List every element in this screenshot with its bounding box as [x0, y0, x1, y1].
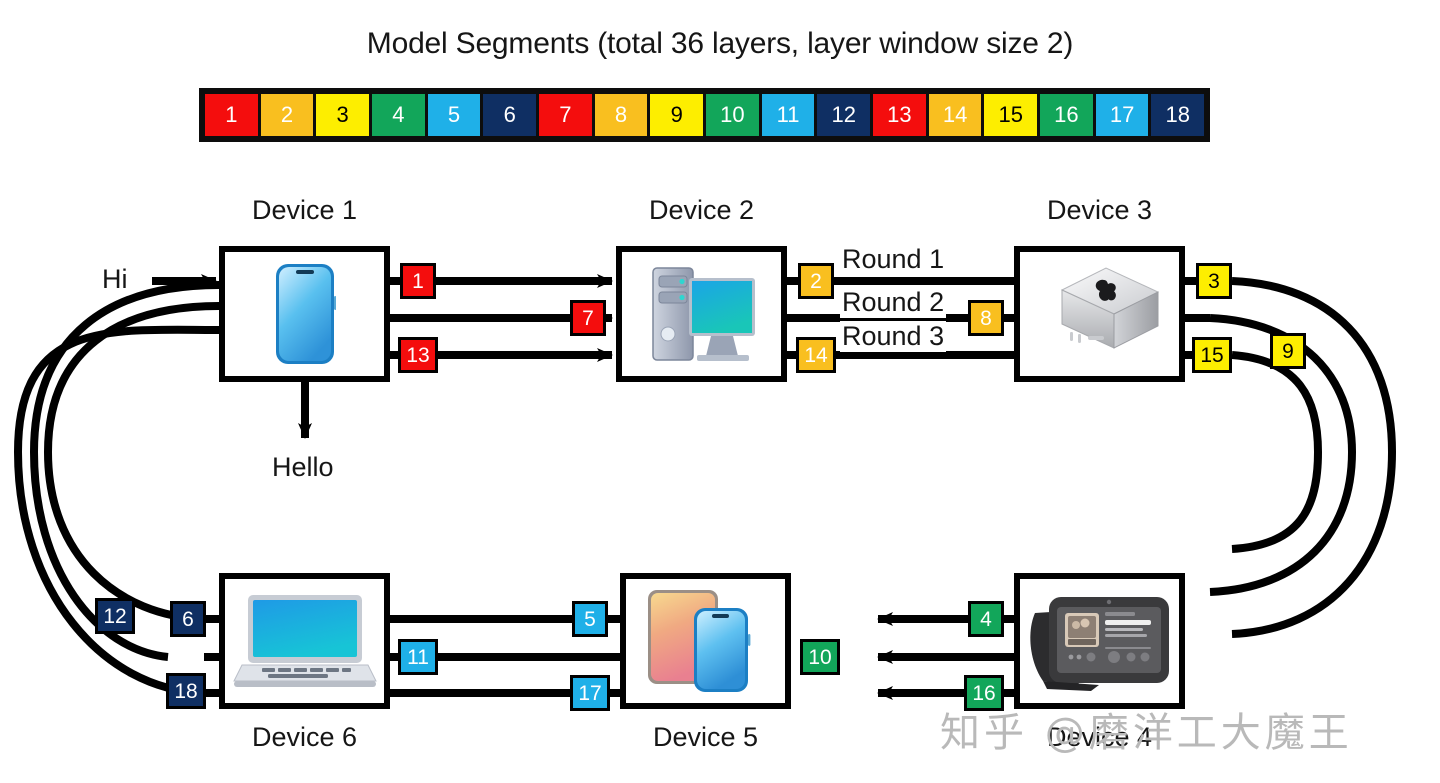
laptop-icon — [232, 589, 378, 693]
badge-d1-out-r1: 1 — [400, 263, 436, 299]
smartphone-icon — [274, 262, 336, 366]
badge-text: 11 — [407, 647, 429, 668]
badge-d6-out-r1: 6 — [170, 601, 206, 637]
badge-text: 12 — [103, 606, 126, 627]
badge-d2-out-r1: 2 — [798, 263, 834, 299]
badge-text: 2 — [810, 271, 822, 292]
badge-text: 10 — [808, 647, 831, 668]
badge-text: 15 — [1200, 345, 1223, 366]
output-label-hello: Hello — [272, 452, 334, 483]
badge-text: 7 — [582, 308, 594, 329]
device-6-label: Device 6 — [219, 722, 390, 753]
badge-text: 14 — [804, 345, 827, 366]
device-3-box[interactable] — [1014, 246, 1185, 382]
badge-text: 6 — [182, 609, 194, 630]
input-label-hi: Hi — [102, 264, 128, 295]
mac-studio-icon — [1032, 262, 1168, 366]
round-1-label: Round 1 — [840, 244, 946, 275]
badge-d1-out-r3: 13 — [398, 337, 438, 373]
device-1-label: Device 1 — [219, 195, 390, 226]
badge-text: 1 — [412, 271, 424, 292]
device-5-label: Device 5 — [620, 722, 791, 753]
badge-d6-out-r3: 18 — [166, 673, 206, 709]
badge-text: 13 — [406, 345, 429, 366]
device-4-box[interactable] — [1014, 573, 1185, 709]
badge-d2-out-r3: 14 — [796, 337, 836, 373]
tablet-and-phone-icon — [642, 586, 770, 696]
badge-d3-out-r3: 15 — [1192, 337, 1232, 373]
device-1-box[interactable] — [219, 246, 390, 382]
smart-display-icon — [1021, 585, 1179, 697]
device-5-box[interactable] — [620, 573, 791, 709]
device-2-label: Device 2 — [616, 195, 787, 226]
badge-d3-in-r2: 8 — [968, 300, 1004, 336]
badge-text: 18 — [174, 681, 197, 702]
badge-d6-out-r2: 12 — [95, 598, 135, 634]
round-3-label: Round 3 — [840, 321, 946, 352]
diagram-canvas: Model Segments (total 36 layers, layer w… — [0, 0, 1440, 783]
badge-text: 8 — [980, 308, 992, 329]
badge-text: 3 — [1208, 271, 1220, 292]
badge-text: 5 — [584, 609, 596, 630]
device-6-box[interactable] — [219, 573, 390, 709]
badge-d4-out-r2: 10 — [800, 639, 840, 675]
device-3-label: Device 3 — [1014, 195, 1185, 226]
badge-d2-in-r2: 7 — [570, 300, 606, 336]
badge-d5-out-r2: 11 — [398, 639, 438, 675]
badge-text: 17 — [578, 683, 601, 704]
watermark: 知乎 @磨洋工大魔王 — [940, 700, 1353, 758]
badge-d5-out-r1: 5 — [572, 601, 608, 637]
desktop-computer-icon — [639, 262, 765, 366]
round-2-label: Round 2 — [840, 287, 946, 318]
device-2-box[interactable] — [616, 246, 787, 382]
badge-d4-out-r1: 4 — [968, 601, 1004, 637]
badge-text: 9 — [1282, 341, 1294, 362]
badge-text: 4 — [980, 609, 992, 630]
badge-d3-out-r2: 9 — [1270, 333, 1306, 369]
badge-d5-out-r3: 17 — [570, 675, 610, 711]
badge-d3-out-r1: 3 — [1196, 263, 1232, 299]
